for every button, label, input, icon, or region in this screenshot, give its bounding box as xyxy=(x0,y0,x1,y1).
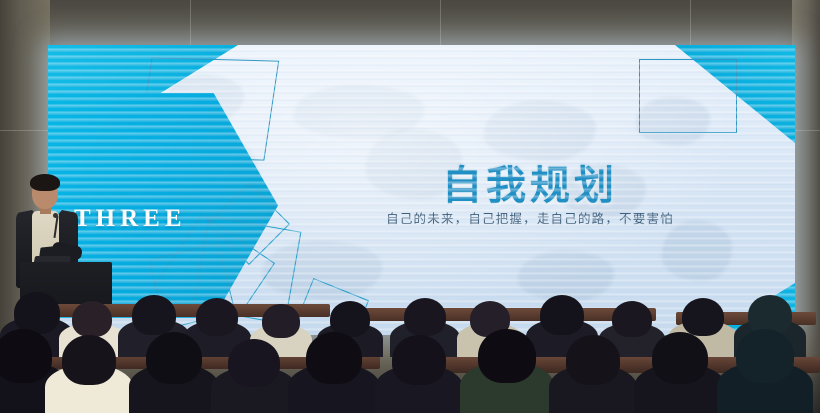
audience-member-head xyxy=(146,332,202,384)
audience-member-head xyxy=(736,329,794,383)
audience-member-head xyxy=(566,335,620,385)
audience xyxy=(0,275,820,413)
audience-member-head xyxy=(228,339,280,387)
audience-member-head xyxy=(392,335,446,385)
audience-member-head xyxy=(404,298,446,336)
photo-scene: THREE 自我规划 自己的未来，自己把握，走自己的路，不要害怕 xyxy=(0,0,820,413)
audience-member-head xyxy=(652,332,708,384)
presenter-hair xyxy=(30,174,60,191)
room-wall-upper xyxy=(0,0,820,48)
outlined-square-top-right-decoration xyxy=(639,59,737,133)
audience-member-head xyxy=(612,301,652,337)
audience-member-head xyxy=(540,295,584,335)
audience-member-head xyxy=(0,329,52,383)
slide-title: 自我规划 xyxy=(360,153,700,211)
audience-member-head xyxy=(306,332,362,384)
microphone-head-icon xyxy=(53,213,58,218)
world-map-watermark xyxy=(662,221,732,281)
audience-member-head xyxy=(14,292,60,334)
world-map-watermark xyxy=(484,101,596,161)
audience-member-head xyxy=(72,301,112,337)
audience-member-head xyxy=(682,298,724,336)
audience-member-head xyxy=(132,295,176,335)
audience-member-head xyxy=(478,329,536,383)
audience-member-head xyxy=(262,304,300,338)
slide-section-label: THREE xyxy=(74,205,187,233)
audience-member-head xyxy=(62,335,116,385)
audience-member-head xyxy=(196,298,238,336)
slide-subtitle: 自己的未来，自己把握，走自己的路，不要害怕 xyxy=(310,208,750,227)
